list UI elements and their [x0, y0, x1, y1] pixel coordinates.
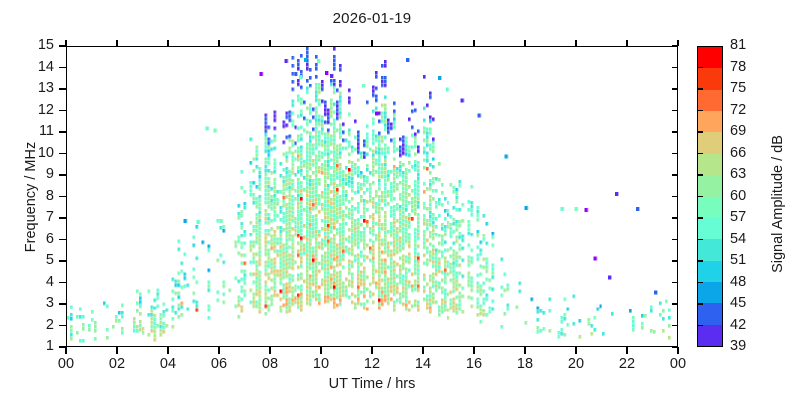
y-tick-label-3: 3 — [18, 295, 54, 311]
x-tick-12 — [371, 347, 372, 354]
heatmap-canvas-wrapper — [67, 47, 677, 346]
x-tick-label-22: 22 — [607, 356, 647, 372]
x-tick-label-14: 14 — [403, 356, 443, 372]
y-tick-right-11 — [672, 131, 678, 132]
colorbar-tick-78 — [697, 67, 703, 68]
y-tick-14 — [59, 67, 66, 68]
colorbar-tick-60 — [697, 196, 703, 197]
x-tick-top-18 — [524, 40, 525, 46]
chart-figure: 2026-01-19 00020406081012141618202200 12… — [0, 0, 800, 400]
colorbar-band-7 — [698, 197, 722, 218]
x-tick-top-04 — [167, 40, 168, 46]
colorbar-tick-label-39: 39 — [730, 338, 764, 354]
x-tick-label-18: 18 — [505, 356, 545, 372]
x-axis-label: UT Time / hrs — [66, 376, 678, 392]
colorbar-band-4 — [698, 132, 722, 153]
chart-title: 2026-01-19 — [0, 10, 744, 27]
colorbar-tick-label-78: 78 — [730, 59, 764, 75]
x-tick-10 — [320, 347, 321, 354]
colorbar-label: Signal Amplitude / dB — [770, 89, 786, 319]
x-tick-00 — [677, 347, 678, 354]
colorbar-band-2 — [698, 90, 722, 111]
y-tick-5 — [59, 260, 66, 261]
colorbar-band-10 — [698, 261, 722, 282]
y-tick-right-3 — [672, 303, 678, 304]
y-tick-right-2 — [672, 325, 678, 326]
colorbar-tick-label-81: 81 — [730, 37, 764, 53]
x-tick-14 — [422, 347, 423, 354]
plot-area — [66, 46, 678, 347]
x-tick-top-06 — [218, 40, 219, 46]
x-tick-02 — [116, 347, 117, 354]
colorbar-tick-42 — [697, 325, 703, 326]
y-tick-6 — [59, 239, 66, 240]
colorbar-tick-label-57: 57 — [730, 209, 764, 225]
colorbar-band-13 — [698, 325, 722, 346]
y-tick-3 — [59, 303, 66, 304]
colorbar-band-3 — [698, 111, 722, 132]
colorbar-tick-label-72: 72 — [730, 102, 764, 118]
y-tick-1 — [59, 346, 66, 347]
y-tick-9 — [59, 174, 66, 175]
x-tick-22 — [626, 347, 627, 354]
y-tick-right-15 — [672, 45, 678, 46]
y-tick-7 — [59, 217, 66, 218]
y-tick-label-1: 1 — [18, 338, 54, 354]
y-tick-right-5 — [672, 260, 678, 261]
x-tick-top-20 — [575, 40, 576, 46]
y-tick-right-10 — [672, 153, 678, 154]
x-tick-top-22 — [626, 40, 627, 46]
colorbar-tick-54 — [697, 239, 703, 240]
colorbar-tick-label-54: 54 — [730, 231, 764, 247]
x-tick-top-16 — [473, 40, 474, 46]
colorbar-tick-label-63: 63 — [730, 166, 764, 182]
y-tick-label-13: 13 — [18, 80, 54, 96]
y-tick-label-14: 14 — [18, 59, 54, 75]
x-tick-label-00: 00 — [658, 356, 698, 372]
colorbar-band-8 — [698, 218, 722, 239]
x-tick-label-12: 12 — [352, 356, 392, 372]
colorbar-tick-label-45: 45 — [730, 295, 764, 311]
colorbar-tick-label-51: 51 — [730, 252, 764, 268]
y-tick-right-8 — [672, 196, 678, 197]
colorbar-band-12 — [698, 303, 722, 324]
x-tick-label-06: 06 — [199, 356, 239, 372]
colorbar-tick-75 — [697, 88, 703, 89]
x-tick-label-08: 08 — [250, 356, 290, 372]
colorbar-tick-45 — [697, 303, 703, 304]
x-tick-label-04: 04 — [148, 356, 188, 372]
colorbar-tick-51 — [697, 260, 703, 261]
colorbar-band-1 — [698, 68, 722, 89]
x-tick-label-02: 02 — [97, 356, 137, 372]
x-tick-20 — [575, 347, 576, 354]
colorbar-tick-69 — [697, 131, 703, 132]
y-tick-11 — [59, 131, 66, 132]
y-tick-right-1 — [672, 346, 678, 347]
x-tick-top-08 — [269, 40, 270, 46]
colorbar-band-6 — [698, 175, 722, 196]
x-tick-label-20: 20 — [556, 356, 596, 372]
colorbar-band-0 — [698, 47, 722, 68]
colorbar-band-5 — [698, 154, 722, 175]
x-tick-06 — [218, 347, 219, 354]
colorbar-tick-label-42: 42 — [730, 317, 764, 333]
x-tick-label-10: 10 — [301, 356, 341, 372]
x-tick-top-02 — [116, 40, 117, 46]
colorbar-band-9 — [698, 239, 722, 260]
y-tick-right-14 — [672, 67, 678, 68]
colorbar-tick-label-60: 60 — [730, 188, 764, 204]
y-tick-10 — [59, 153, 66, 154]
colorbar-tick-66 — [697, 153, 703, 154]
y-tick-label-15: 15 — [18, 37, 54, 53]
y-tick-12 — [59, 110, 66, 111]
y-tick-right-9 — [672, 174, 678, 175]
x-tick-04 — [167, 347, 168, 354]
colorbar-tick-label-48: 48 — [730, 274, 764, 290]
y-axis-label: Frequency / MHz — [23, 97, 39, 297]
y-tick-right-4 — [672, 282, 678, 283]
colorbar-tick-label-75: 75 — [730, 80, 764, 96]
x-tick-00 — [65, 347, 66, 354]
colorbar-tick-label-66: 66 — [730, 145, 764, 161]
colorbar-tick-57 — [697, 217, 703, 218]
colorbar-tick-72 — [697, 110, 703, 111]
colorbar-tick-label-69: 69 — [730, 123, 764, 139]
y-tick-15 — [59, 45, 66, 46]
x-tick-top-14 — [422, 40, 423, 46]
x-tick-top-12 — [371, 40, 372, 46]
spectrogram-heatmap — [67, 47, 677, 346]
y-tick-8 — [59, 196, 66, 197]
x-tick-16 — [473, 347, 474, 354]
y-tick-4 — [59, 282, 66, 283]
y-tick-label-2: 2 — [18, 317, 54, 333]
colorbar-tick-48 — [697, 282, 703, 283]
x-tick-top-10 — [320, 40, 321, 46]
y-tick-13 — [59, 88, 66, 89]
y-tick-right-7 — [672, 217, 678, 218]
y-tick-right-13 — [672, 88, 678, 89]
colorbar-tick-63 — [697, 174, 703, 175]
y-tick-right-6 — [672, 239, 678, 240]
colorbar-band-11 — [698, 282, 722, 303]
x-tick-08 — [269, 347, 270, 354]
x-tick-label-16: 16 — [454, 356, 494, 372]
y-tick-right-12 — [672, 110, 678, 111]
y-tick-2 — [59, 325, 66, 326]
x-tick-18 — [524, 347, 525, 354]
x-tick-label-00: 00 — [46, 356, 86, 372]
